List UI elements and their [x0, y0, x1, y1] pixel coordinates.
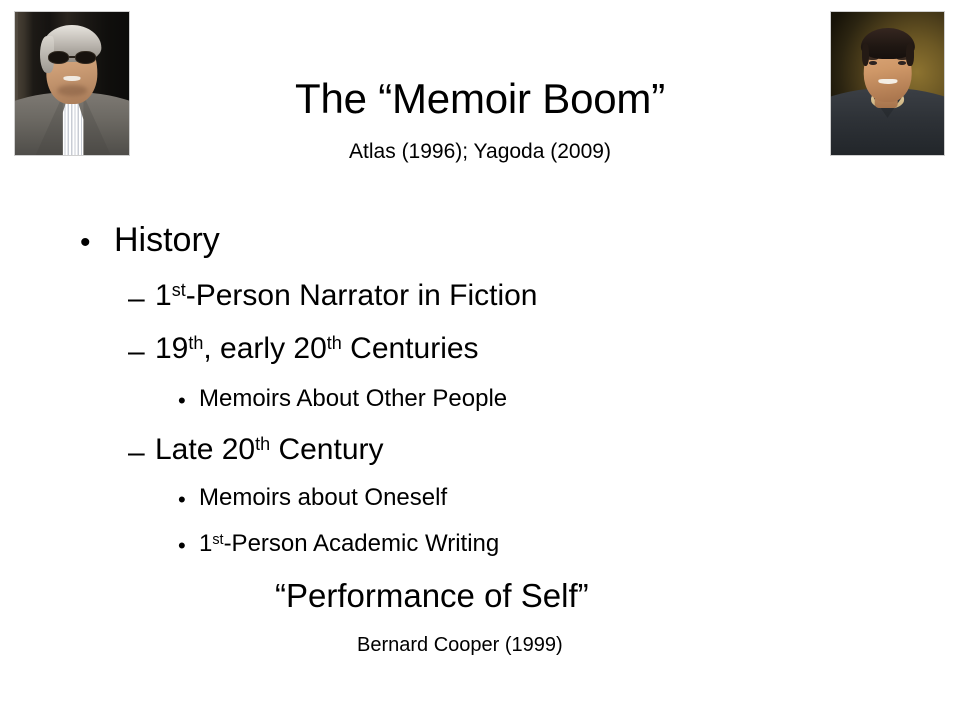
ordinal-suffix-th-3: th	[255, 434, 270, 454]
bullet-memoirs-about-oneself: Memoirs about Oneself	[199, 486, 447, 510]
late-century-post: Century	[270, 433, 383, 466]
bullet-first-person-academic-writing: 1st-Person Academic Writing	[199, 532, 499, 556]
centuries-post: Centuries	[342, 332, 479, 365]
ordinal-suffix-th-1: th	[188, 333, 203, 353]
bullet-late-20th-century: Late 20th Century	[155, 435, 384, 465]
academic-writing-pre: 1	[199, 530, 212, 557]
centuries-mid: , early 20	[203, 332, 326, 365]
closing-quote: “Performance of Self”	[275, 579, 589, 612]
bullet-marker-level3-b: •	[178, 489, 186, 511]
bullet-first-person-narrator: 1st-Person Narrator in Fiction	[155, 281, 538, 311]
ordinal-suffix-st-2: st	[212, 532, 223, 548]
late-century-pre: Late 20	[155, 433, 255, 466]
presentation-slide: The “Memoir Boom” Atlas (1996); Yagoda (…	[0, 0, 960, 720]
ordinal-suffix-st: st	[172, 280, 186, 300]
bullet-marker-level2-b: –	[128, 337, 145, 367]
bullet-19th-early-20th-centuries: 19th, early 20th Centuries	[155, 334, 479, 364]
bullet-marker-level2-c: –	[128, 438, 145, 468]
ordinal-suffix-th-2: th	[327, 333, 342, 353]
academic-writing-post: -Person Academic Writing	[224, 530, 500, 557]
centuries-pre: 19	[155, 332, 188, 365]
bullet-history: History	[114, 223, 220, 257]
closing-attribution: Bernard Cooper (1999)	[357, 635, 563, 655]
bullet-marker-level2-a: –	[128, 284, 145, 314]
bullet-memoirs-about-other-people: Memoirs About Other People	[199, 387, 507, 411]
bullet-first-person-narrator-pre: 1	[155, 279, 172, 312]
bullet-marker-level3-a: •	[178, 390, 186, 412]
bullet-first-person-narrator-post: -Person Narrator in Fiction	[186, 279, 538, 312]
bullet-marker-level1: •	[80, 228, 91, 258]
bullet-marker-level3-c: •	[178, 535, 186, 557]
